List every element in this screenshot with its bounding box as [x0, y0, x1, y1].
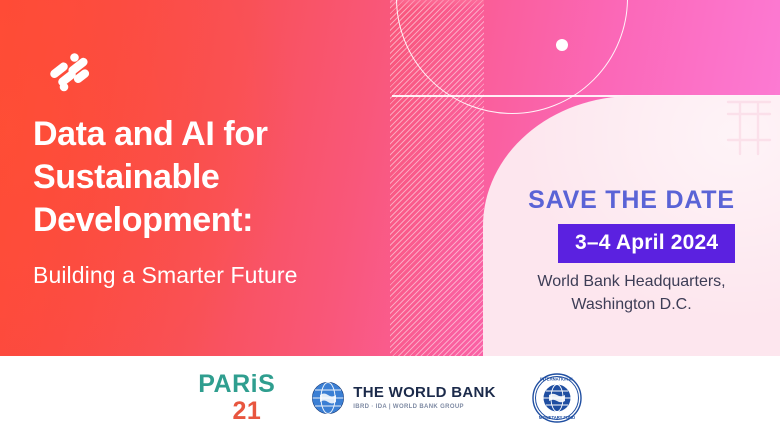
- world-bank-subtitle: IBRD · IDA | WORLD BANK GROUP: [353, 404, 496, 410]
- page-title: Data and AI for Sustainable Development:: [33, 113, 373, 241]
- venue-address: World Bank Headquarters, Washington D.C.: [483, 270, 780, 316]
- headline-line-3: Development:: [33, 199, 373, 242]
- save-the-date-label: SAVE THE DATE: [483, 186, 780, 215]
- svg-text:INTERNATIONAL: INTERNATIONAL: [540, 376, 574, 381]
- paris21-wordmark-top: PARiS: [198, 372, 275, 397]
- arc-dot-decoration: [556, 39, 568, 51]
- watermark-icon: [718, 96, 780, 160]
- paris21-dots-mark-icon: [47, 50, 91, 94]
- date-badge: 3–4 April 2024: [558, 224, 735, 263]
- event-banner: Data and AI for Sustainable Development:…: [0, 0, 780, 439]
- venue-line-2: Washington D.C.: [483, 293, 780, 316]
- imf-seal-icon: INTERNATIONAL MONETARY FUND: [532, 373, 582, 423]
- subtitle: Building a Smarter Future: [33, 262, 298, 289]
- venue-line-1: World Bank Headquarters,: [483, 270, 780, 293]
- svg-text:MONETARY FUND: MONETARY FUND: [539, 415, 575, 420]
- paris21-wordmark-bottom: 21: [232, 399, 261, 424]
- partner-logos-footer: PARiS 21 THE WORLD: [0, 356, 780, 439]
- headline-line-1: Data and AI for: [33, 113, 373, 156]
- world-bank-title: THE WORLD BANK: [353, 385, 496, 400]
- world-bank-globe-icon: [311, 381, 345, 415]
- banner-artwork: Data and AI for Sustainable Development:…: [0, 0, 780, 356]
- world-bank-text: THE WORLD BANK IBRD · IDA | WORLD BANK G…: [353, 385, 496, 410]
- headline-line-2: Sustainable: [33, 156, 373, 199]
- logo-world-bank: THE WORLD BANK IBRD · IDA | WORLD BANK G…: [311, 381, 496, 415]
- logo-paris21: PARiS 21: [198, 372, 275, 424]
